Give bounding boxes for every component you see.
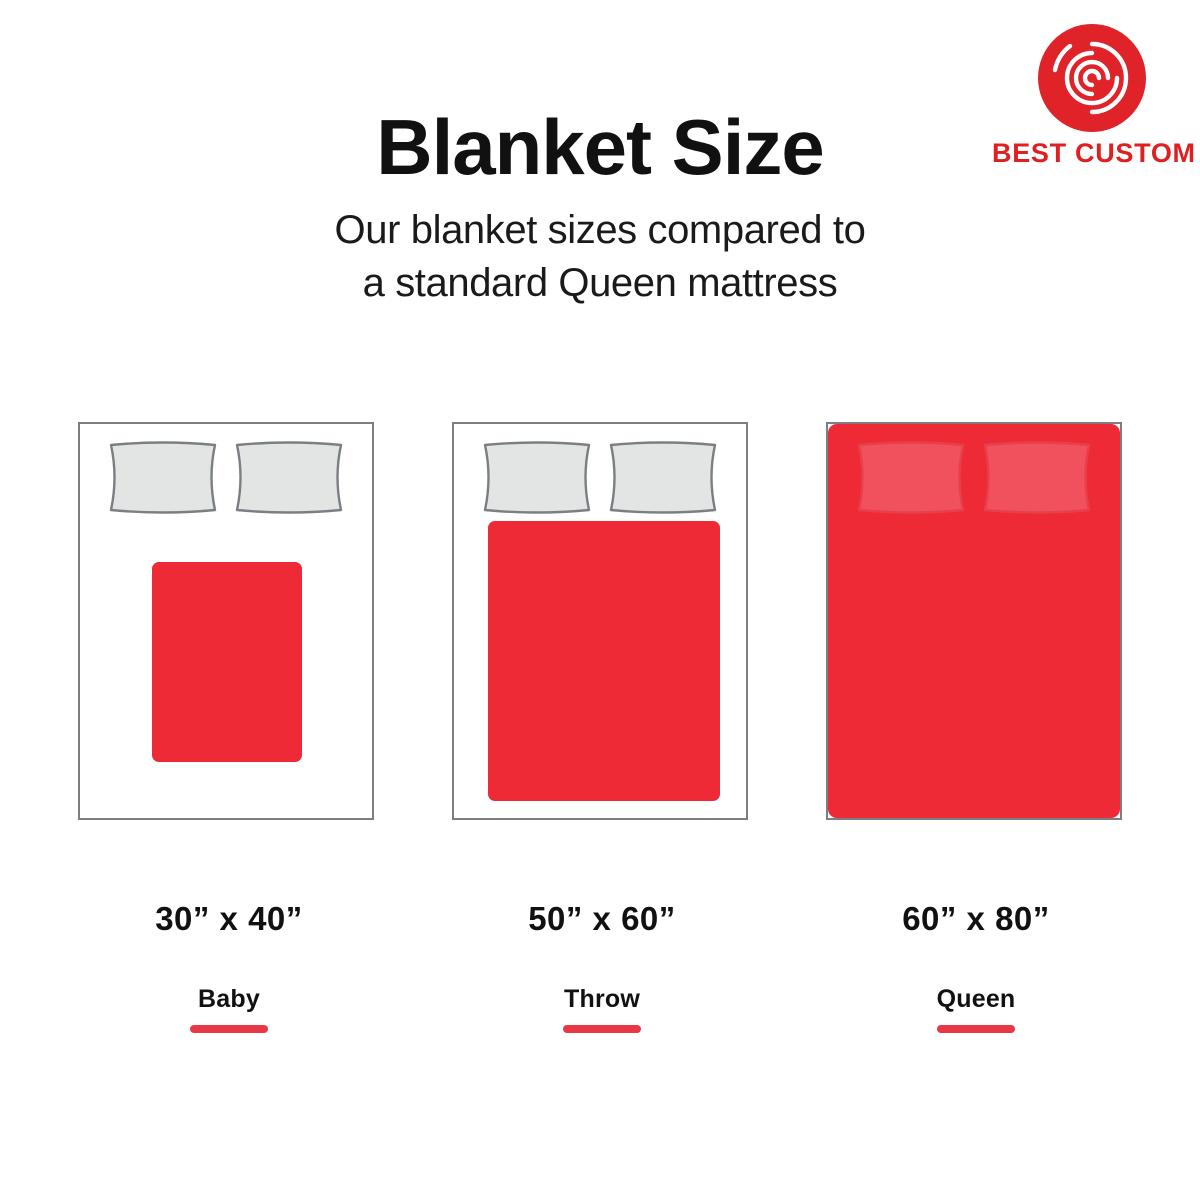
- accent-bar: [937, 1025, 1015, 1033]
- bed-diagram-baby: [78, 422, 374, 820]
- label-throw: 50” x 60” Throw: [437, 900, 767, 1033]
- pillow-right: [604, 440, 722, 515]
- pillow-right: [978, 440, 1096, 515]
- page-subtitle-line-2: a standard Queen mattress: [0, 257, 1200, 310]
- pillow-left: [478, 440, 596, 515]
- blanket-throw: [488, 521, 720, 801]
- dimension-text: 60” x 80”: [811, 900, 1141, 938]
- bed-comparison-row: [0, 422, 1200, 822]
- page-subtitle: Our blanket sizes compared to a standard…: [0, 204, 1200, 310]
- pillow-left: [852, 440, 970, 515]
- page-title: Blanket Size: [0, 104, 1200, 190]
- pillow-right: [230, 440, 348, 515]
- dimension-text: 30” x 40”: [64, 900, 394, 938]
- label-baby: 30” x 40” Baby: [64, 900, 394, 1033]
- size-name-text: Queen: [811, 985, 1141, 1014]
- bed-diagram-queen: [826, 422, 1122, 820]
- dimension-text: 50” x 60”: [437, 900, 767, 938]
- page-subtitle-line-1: Our blanket sizes compared to: [0, 204, 1200, 257]
- size-name-text: Baby: [64, 985, 394, 1014]
- size-name-text: Throw: [437, 985, 767, 1014]
- header: Blanket Size Our blanket sizes compared …: [0, 104, 1200, 310]
- label-queen: 60” x 80” Queen: [811, 900, 1141, 1033]
- accent-bar: [190, 1025, 268, 1033]
- accent-bar: [563, 1025, 641, 1033]
- pillow-left: [104, 440, 222, 515]
- blanket-baby: [152, 562, 302, 762]
- bed-labels-row: 30” x 40” Baby 50” x 60” Throw 60” x 80”…: [0, 900, 1200, 1040]
- bed-diagram-throw: [452, 422, 748, 820]
